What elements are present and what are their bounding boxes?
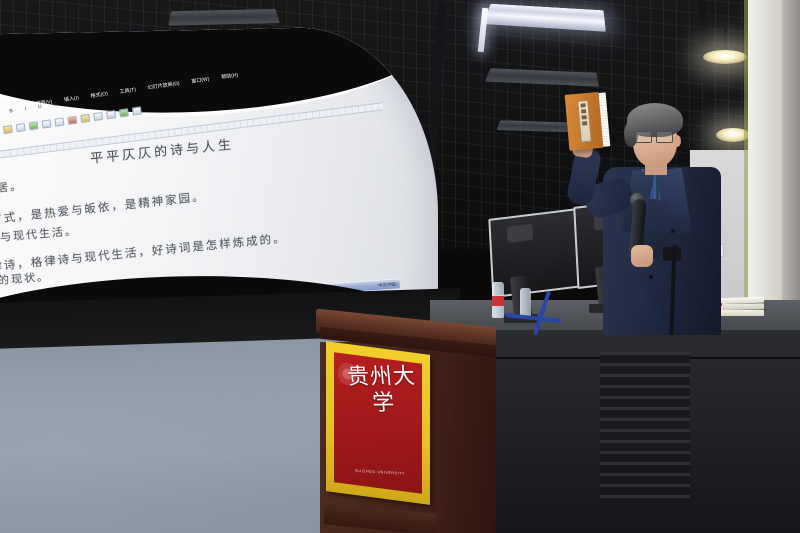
slide-line-1: 诗意栖居。 — [0, 177, 23, 199]
glasses-lens-left — [635, 131, 652, 143]
preview-icon[interactable] — [16, 123, 26, 132]
equipment-rack-vents — [600, 352, 690, 502]
coat-button — [671, 229, 675, 233]
paste-icon[interactable] — [67, 116, 77, 125]
chart-icon[interactable] — [119, 108, 129, 117]
monitor-rear-bump — [507, 224, 534, 243]
projected-slide: 平平仄仄的诗与人生 诗意栖居。 歌是生活方式，是热爱与皈依，是精神家园。 格律诗… — [0, 25, 438, 327]
taskbar-tray-language[interactable]: 中文(中国) — [378, 281, 397, 288]
underline-button[interactable]: U — [38, 104, 42, 111]
university-name-cn: 贵州大学 — [346, 364, 424, 470]
slide-line-3: 格律诗词与现代生活。 — [0, 222, 78, 249]
water-bottle-2 — [520, 288, 531, 318]
undo-icon[interactable] — [93, 112, 103, 121]
format-painter-icon[interactable] — [80, 114, 90, 123]
fluorescent-panel-4 — [168, 9, 280, 26]
redo-icon[interactable] — [106, 110, 116, 119]
bold-button[interactable]: B — [9, 108, 13, 115]
coat-button — [649, 275, 653, 279]
shadow-button[interactable]: S — [53, 102, 57, 109]
pendant-head — [703, 50, 747, 64]
lecture-hall-photo: 平平仄仄的诗与人生 诗意栖居。 歌是生活方式，是热爱与皈依，是精神家园。 格律诗… — [0, 0, 800, 533]
bottle-label — [492, 296, 504, 306]
projection-screen: 平平仄仄的诗与人生 诗意栖居。 歌是生活方式，是热爱与皈依，是精神家园。 格律诗… — [0, 30, 440, 330]
copy-icon[interactable] — [54, 118, 64, 127]
presenter-mic-hand — [631, 245, 653, 267]
podium-plaque-field: 贵州大学 GUIZHOU UNIVERSITY — [334, 352, 422, 494]
cut-icon[interactable] — [42, 119, 52, 128]
italic-button[interactable]: I — [24, 106, 26, 113]
glasses-icon — [635, 131, 673, 141]
podium: 贵州大学 GUIZHOU UNIVERSITY — [316, 312, 496, 533]
held-book — [565, 91, 612, 150]
presenter-ear — [673, 135, 681, 147]
glasses-lens-right — [656, 131, 673, 143]
table-icon[interactable] — [132, 106, 142, 115]
print-icon[interactable] — [3, 125, 13, 134]
podium-plaque: 贵州大学 GUIZHOU UNIVERSITY — [326, 341, 430, 505]
presenter — [575, 95, 735, 335]
spellcheck-icon[interactable] — [29, 121, 39, 130]
